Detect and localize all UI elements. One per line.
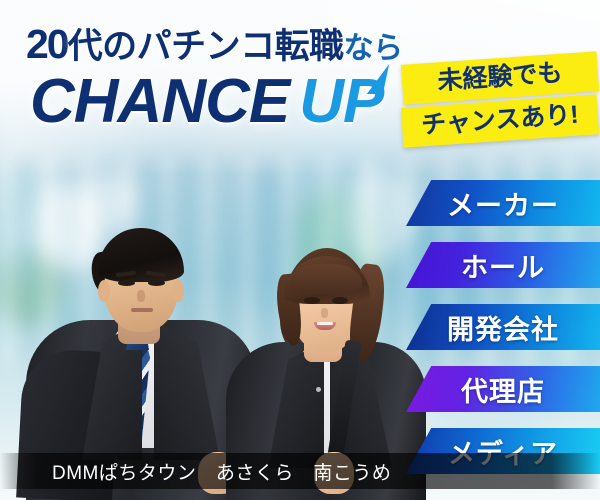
female-eye-left [304,297,320,304]
experience-badge: 未経験でも チャンスあり! [402,58,598,141]
female-blouse-button [316,387,321,392]
model-photo-group [0,160,440,500]
category-button-agency[interactable]: 代理店 [406,366,600,412]
male-ear-left [98,280,110,302]
female-hair-bangs [290,264,362,294]
category-list: メーカー ホール 開発会社 代理店 メディア [406,180,600,490]
category-label: ホール [461,246,545,285]
male-mouth [131,308,153,312]
category-button-maker[interactable]: メーカー [406,180,600,226]
male-hair [98,228,184,282]
category-button-developer[interactable]: 開発会社 [406,304,600,350]
logo-chance-text: CHANCE [30,67,289,136]
male-eye-right [148,280,165,286]
headline-number: 20 [26,21,68,67]
category-button-hall[interactable]: ホール [406,242,600,288]
male-nose [137,290,145,302]
headline-middle: 代のパチンコ転職 [68,27,344,66]
category-label: メーカー [447,184,559,223]
female-nose [321,308,328,318]
caption-bar: DMMぱちタウン あさくら 南こうめ [0,453,600,489]
male-eye-left [118,280,135,286]
headline-text: 20代のパチンコ転職なら [26,18,403,69]
female-eye-right [332,297,348,304]
male-ear-right [172,280,184,302]
logo-up-text: UP [299,66,383,137]
category-label: 代理店 [461,370,545,409]
category-label: 開発会社 [447,308,559,347]
headline-tail: なら [344,32,403,65]
female-teeth [317,322,333,325]
caption-text: DMMぱちタウン あさくら 南こうめ [0,458,391,485]
advertisement-banner[interactable]: 20代のパチンコ転職なら CHANCEUP 未経験でも チャンスあり! メーカー… [0,0,600,500]
chance-up-logo: CHANCEUP [30,66,383,137]
